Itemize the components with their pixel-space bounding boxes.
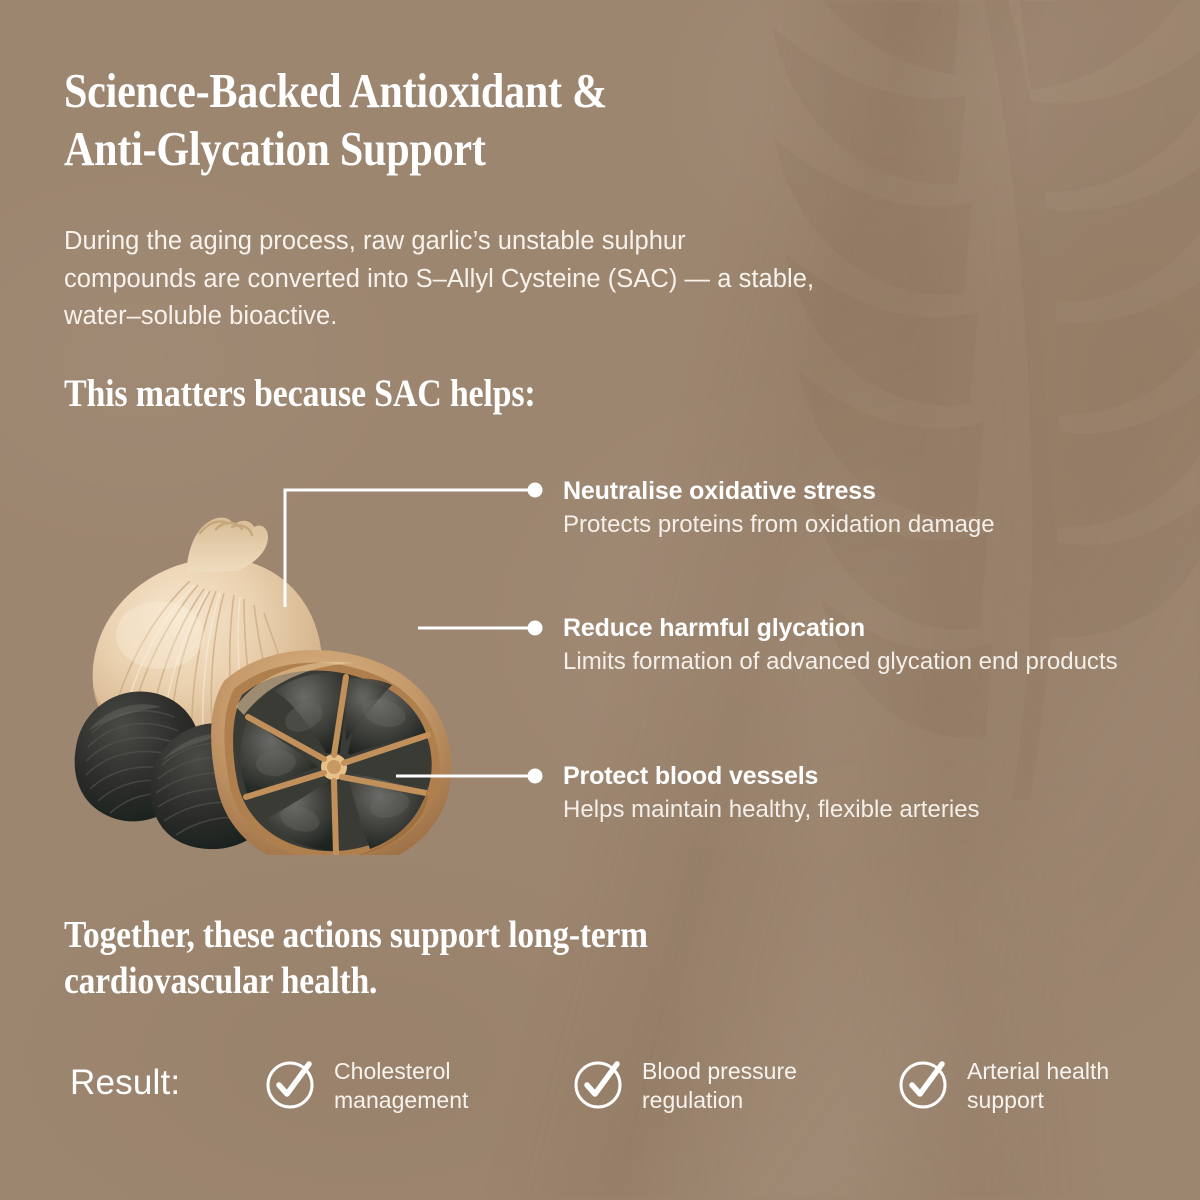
check-circle-icon — [572, 1057, 626, 1111]
result-row: Result: Cholesterol management Blood pre… — [64, 1055, 1154, 1135]
result-item-blood-pressure-regulation: Blood pressure regulation — [572, 1055, 797, 1115]
connector-dot-1 — [528, 483, 543, 498]
black-garlic-illustration — [58, 485, 458, 855]
result-label: Result: — [70, 1063, 180, 1103]
benefit-description: Limits formation of advanced glycation e… — [563, 647, 1138, 677]
connector-dot-3 — [528, 769, 543, 784]
infographic-poster: Science-Backed Antioxidant & Anti-Glycat… — [0, 0, 1200, 1200]
intro-paragraph: During the aging process, raw garlic’s u… — [64, 223, 1074, 336]
benefit-item-1: Neutralise oxidative stress Protects pro… — [563, 476, 1138, 540]
benefit-item-2: Reduce harmful glycation Limits formatio… — [563, 613, 1138, 677]
result-item-label: Arterial health support — [967, 1055, 1109, 1115]
benefit-title: Protect blood vessels — [563, 761, 1138, 792]
benefit-description: Helps maintain healthy, flexible arterie… — [563, 795, 1138, 825]
page-title: Science-Backed Antioxidant & Anti-Glycat… — [64, 62, 786, 179]
benefit-item-3: Protect blood vessels Helps maintain hea… — [563, 761, 1138, 825]
check-circle-icon — [264, 1057, 318, 1111]
result-item-label: Cholesterol management — [334, 1055, 468, 1115]
result-item-label: Blood pressure regulation — [642, 1055, 797, 1115]
result-item-arterial-health-support: Arterial health support — [897, 1055, 1109, 1115]
section-subheading: This matters because SAC helps: — [64, 373, 536, 416]
benefit-title: Neutralise oxidative stress — [563, 476, 1138, 507]
closing-statement: Together, these actions support long-ter… — [64, 912, 838, 1005]
result-item-cholesterol-management: Cholesterol management — [264, 1055, 468, 1115]
connector-dot-2 — [528, 621, 543, 636]
benefit-description: Protects proteins from oxidation damage — [563, 510, 1138, 540]
benefit-title: Reduce harmful glycation — [563, 613, 1138, 644]
check-circle-icon — [897, 1057, 951, 1111]
